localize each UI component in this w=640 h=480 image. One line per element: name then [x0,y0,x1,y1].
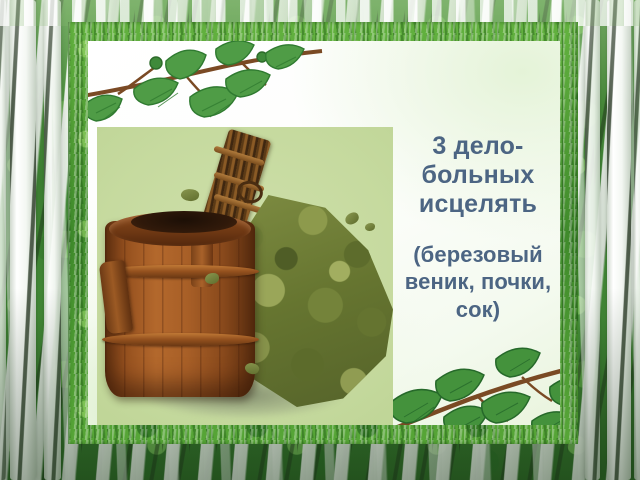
bucket-rim [109,212,251,246]
photo-inner [97,127,393,425]
bucket-besom-photo [97,127,393,425]
text-column: 3 дело-больных исцелять (березовый веник… [388,132,568,323]
slide: 3 дело-больных исцелять (березовый веник… [0,0,640,480]
birch-leaf-icon [365,223,375,231]
bucket-mouth [131,211,237,233]
birch-leaf-icon [180,188,200,203]
birch-leaf-icon [344,211,361,226]
wooden-bucket [105,221,255,397]
bucket-hoop [102,333,259,346]
headline-text: 3 дело-больных исцелять [388,132,568,219]
subline-text: (березовый веник, почки, сок) [388,241,568,323]
